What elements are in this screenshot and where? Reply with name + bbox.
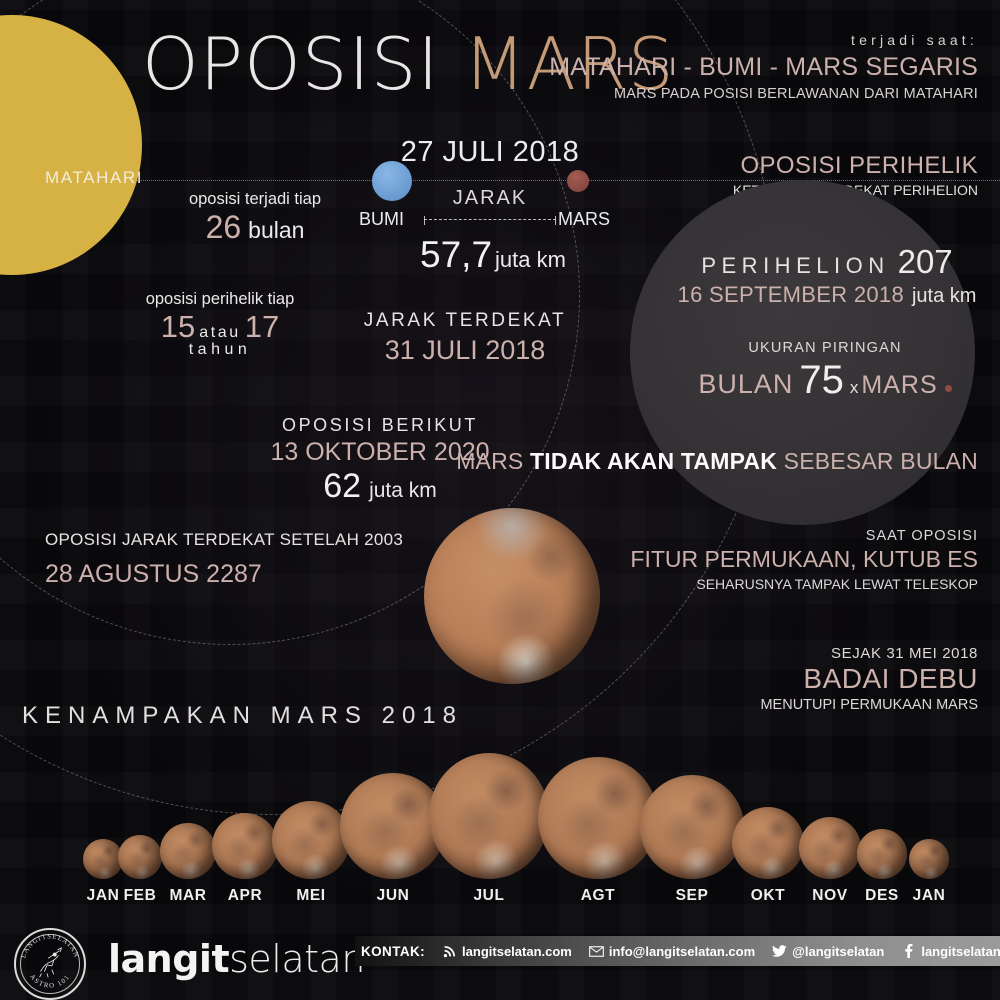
opposition-interval-unit: bulan — [248, 217, 304, 243]
mars-disc-holder — [869, 751, 989, 879]
opposition-interval-value: 26 — [206, 209, 242, 245]
contact-twitter-text: @langitselatan — [792, 944, 884, 959]
email-icon — [589, 944, 604, 959]
kontak-label: KONTAK: — [361, 944, 425, 959]
surface-features-main: FITUR PERMUKAAN, KUTUB ES — [630, 546, 978, 573]
contact-email-text: info@langitselatan.com — [609, 944, 755, 959]
next-opposition-date: 13 OKTOBER 2020 — [260, 438, 500, 467]
surface-features-heading: SAAT OPOSISI — [630, 528, 978, 544]
dust-storm-heading: SEJAK 31 MEI 2018 — [760, 645, 978, 662]
next-opposition-heading: OPOSISI BERIKUT — [260, 415, 500, 436]
perihelion-label: PERIHELION — [701, 253, 889, 279]
closest-after-2003-date: 28 AGUSTUS 2287 — [45, 560, 403, 589]
month-cell: JUL — [429, 751, 549, 905]
perihelion-info-block: PERIHELION207 16 SEPTEMBER 2018juta km — [672, 243, 982, 308]
facebook-icon — [901, 944, 916, 959]
closest-distance-heading: JARAK TERDEKAT — [350, 310, 580, 332]
brand-light-part: selatan — [229, 937, 365, 981]
month-cell: JAN — [869, 751, 989, 905]
statement-suffix: SEBESAR BULAN — [777, 448, 978, 474]
brand-bold-part: langit — [108, 937, 229, 981]
perihelic-interval-block: oposisi perihelik tiap 15atau17 tahun — [130, 290, 310, 359]
closest-after-2003-heading: OPOSISI JARAK TERDEKAT SETELAH 2003 — [45, 530, 403, 550]
contact-twitter[interactable]: @langitselatan — [772, 944, 884, 959]
perihelic-interval-conjunction: atau — [199, 324, 241, 341]
rss-icon — [442, 944, 457, 959]
distance-unit: juta km — [495, 247, 566, 272]
closest-distance-block: JARAK TERDEKAT 31 JULI 2018 — [350, 310, 580, 366]
opposition-date: 27 JULI 2018 — [330, 136, 650, 169]
distance-word: JARAK — [400, 187, 580, 210]
svg-text:LANGITSELATAN: LANGITSELATAN — [20, 933, 80, 959]
statement-emphasis: TIDAK AKAN TAMPAK — [530, 448, 777, 474]
perihelic-interval-label: oposisi perihelik tiap — [130, 290, 310, 309]
contact-email[interactable]: info@langitselatan.com — [589, 944, 755, 959]
mars-disc-jan — [909, 839, 949, 879]
perihelic-interval-value-2: 17 — [245, 309, 279, 344]
next-opposition-unit: juta km — [369, 479, 437, 502]
moon-word: BULAN — [698, 369, 793, 399]
month-label: JAN — [869, 887, 989, 905]
perihelion-distance-unit: juta km — [912, 285, 976, 307]
alignment-info-block: terjadi saat: MATAHARI - BUMI - MARS SEG… — [549, 32, 978, 102]
mars-disc-jul — [429, 753, 549, 879]
appearance-section-title: KENAMPAKAN MARS 2018 — [22, 702, 463, 730]
dust-storm-main: BADAI DEBU — [760, 663, 978, 695]
dust-storm-block: SEJAK 31 MEI 2018 BADAI DEBU MENUTUPI PE… — [760, 645, 978, 713]
langitselatan-logo: LANGITSELATAN ASTRO 101 — [14, 928, 86, 1000]
next-opposition-block: OPOSISI BERIKUT 13 OKTOBER 2020 62juta k… — [260, 415, 500, 506]
logo-sagittarius-icon: LANGITSELATAN ASTRO 101 — [16, 930, 84, 998]
mars-size-chart: JANFEBMARAPRMEIJUNJULAGTSEPOKTNOVDESJAN — [0, 755, 1000, 905]
earth-label: BUMI — [359, 209, 404, 230]
surface-features-sub: SEHARUSNYA TAMPAK LEWAT TELESKOP — [630, 576, 978, 592]
surface-features-block: SAAT OPOSISI FITUR PERMUKAAN, KUTUB ES S… — [630, 528, 978, 592]
alignment-subtext: MARS PADA POSISI BERLAWANAN DARI MATAHAR… — [549, 86, 978, 102]
distance-value-block: 57,7juta km — [398, 234, 588, 276]
perihelic-heading: OPOSISI PERIHELIK — [733, 152, 978, 180]
dust-storm-sub: MENUTUPI PERMUKAAN MARS — [760, 697, 978, 713]
mars-not-as-big-statement: MARS TIDAK AKAN TAMPAK SEBESAR BULAN — [456, 448, 978, 475]
title-part-oposisi: OPOSISI — [142, 22, 440, 106]
closest-after-2003-block: OPOSISI JARAK TERDEKAT SETELAH 2003 28 A… — [45, 530, 403, 589]
svg-text:ASTRO 101: ASTRO 101 — [28, 973, 72, 989]
perihelic-interval-value-1: 15 — [161, 309, 195, 344]
distance-measure-bar — [424, 219, 556, 220]
next-opposition-value: 62 — [323, 467, 361, 505]
mars-word: MARS — [861, 371, 937, 399]
mars-disc-holder — [429, 751, 549, 879]
contact-website[interactable]: langitselatan.com — [442, 944, 572, 959]
mars-label: MARS — [558, 209, 610, 230]
mars-dot-icon — [945, 385, 952, 392]
times-symbol: x — [850, 378, 859, 397]
distance-value: 57,7 — [420, 234, 492, 275]
contact-facebook-text: langitselatan — [921, 944, 1000, 959]
alignment-eyebrow: terjadi saat: — [549, 32, 978, 48]
brand-wordmark: langitselatan — [108, 940, 365, 978]
opposition-interval-label: oposisi terjadi tiap — [170, 190, 340, 209]
contact-bar: KONTAK: langitselatan.com info@langitsel… — [355, 936, 1000, 966]
opposition-interval-block: oposisi terjadi tiap 26bulan — [170, 190, 340, 246]
contact-website-text: langitselatan.com — [462, 944, 572, 959]
twitter-icon — [772, 944, 787, 959]
perihelic-interval-unit: tahun — [130, 341, 310, 359]
perihelion-distance-value: 207 — [898, 243, 953, 280]
disc-size-label: UKURAN PIRINGAN — [660, 340, 990, 356]
size-factor-value: 75 — [799, 358, 844, 402]
disc-size-block: UKURAN PIRINGAN BULAN75xMARS — [660, 340, 990, 403]
perihelion-date: 16 SEPTEMBER 2018 — [678, 282, 904, 307]
contact-facebook[interactable]: langitselatan — [901, 944, 1000, 959]
mars-main-photo — [424, 508, 600, 684]
month-label: JUL — [429, 887, 549, 905]
closest-distance-date: 31 JULI 2018 — [350, 335, 580, 366]
sun-label: MATAHARI — [45, 168, 143, 188]
alignment-headline: MATAHARI - BUMI - MARS SEGARIS — [549, 53, 978, 82]
